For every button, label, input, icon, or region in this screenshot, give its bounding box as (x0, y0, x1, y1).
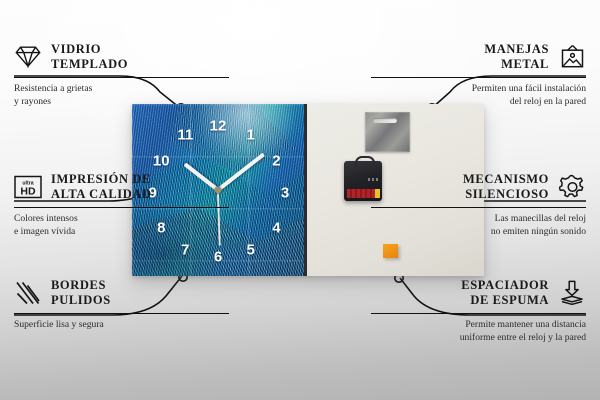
diamond-icon (14, 44, 42, 70)
clock-numeral-6: 6 (214, 250, 222, 265)
feature-title-line2: ALTA CALIDAD (51, 187, 152, 202)
feature-divider (14, 313, 229, 314)
feature-divider (14, 207, 229, 208)
clock-numeral-12: 12 (210, 119, 227, 134)
clock-numeral-1: 1 (247, 127, 255, 142)
clock-numeral-10: 10 (153, 153, 170, 168)
feature-divider (371, 207, 586, 208)
feature-title: ESPACIADOR (461, 278, 549, 293)
hanger-slot (373, 118, 397, 123)
feature-divider (14, 77, 229, 78)
feature-title-line2: DE ESPUMA (461, 293, 549, 308)
ultra-hd-badge-icon: ultra HD (14, 174, 42, 200)
feature-callout-vidrio-templado: VIDRIO TEMPLADO Resistencia a grietas y … (14, 42, 229, 108)
picture-hanger-icon (558, 44, 586, 70)
feature-title: BORDES (51, 278, 111, 293)
feature-description-line2: y rayones (14, 96, 229, 109)
feature-title-line2: METAL (484, 57, 549, 72)
feature-callout-manejas-metal: MANEJAS METAL Permiten una fácil instala… (371, 42, 586, 108)
feature-divider (371, 77, 586, 78)
feature-title: MANEJAS (484, 42, 549, 57)
feature-title-line2: SILENCIOSO (463, 187, 549, 202)
clock-numeral-7: 7 (181, 243, 189, 258)
clock-numeral-2: 2 (272, 153, 280, 168)
svg-text:HD: HD (20, 185, 36, 197)
mechanism-hanging-loop (355, 156, 375, 167)
foam-spacer-arrow-icon (558, 280, 586, 306)
feature-divider (371, 313, 586, 314)
feature-description: Permiten una fácil instalación (371, 83, 586, 96)
infographic-canvas: 12 1 2 3 4 5 6 7 8 9 10 11 (0, 0, 600, 400)
feature-title-line2: TEMPLADO (51, 57, 128, 72)
clock-numeral-11: 11 (177, 127, 193, 142)
clock-numeral-4: 4 (272, 220, 280, 235)
feature-description: Colores intensos (14, 213, 229, 226)
feature-description: Resistencia a grietas (14, 83, 229, 96)
feature-callout-impresion-alta-calidad: ultra HD IMPRESIÓN DE ALTA CALIDAD Color… (14, 172, 229, 238)
feature-title: MECANISMO (463, 172, 549, 187)
feature-description-line2: uniforme entre el reloj y la pared (371, 332, 586, 345)
feature-title: IMPRESIÓN DE (51, 172, 152, 187)
foam-spacer (383, 244, 398, 258)
feature-description-line2: del reloj en la pared (371, 96, 586, 109)
metal-hanger-plate (365, 112, 410, 152)
diagonal-lines-icon (14, 280, 42, 306)
feature-description: Permite mantener una distancia (371, 319, 586, 332)
feature-title: VIDRIO (51, 42, 128, 57)
gear-icon (558, 174, 586, 200)
clock-numeral-5: 5 (247, 243, 255, 258)
feature-description: Superficie lisa y segura (14, 319, 229, 332)
feature-callout-mecanismo-silencioso: MECANISMO SILENCIOSO Las manecillas del … (371, 172, 586, 238)
clock-numeral-3: 3 (281, 186, 289, 201)
feature-description-line2: e imagen vívida (14, 226, 229, 239)
feature-callout-espaciador-de-espuma: ESPACIADOR DE ESPUMA Permite mantener un… (371, 278, 586, 344)
feature-title-line2: PULIDOS (51, 293, 111, 308)
feature-description-line2: no emiten ningún sonido (371, 226, 586, 239)
feature-callout-bordes-pulidos: BORDES PULIDOS Superficie lisa y segura (14, 278, 229, 332)
feature-description: Las manecillas del reloj (371, 213, 586, 226)
